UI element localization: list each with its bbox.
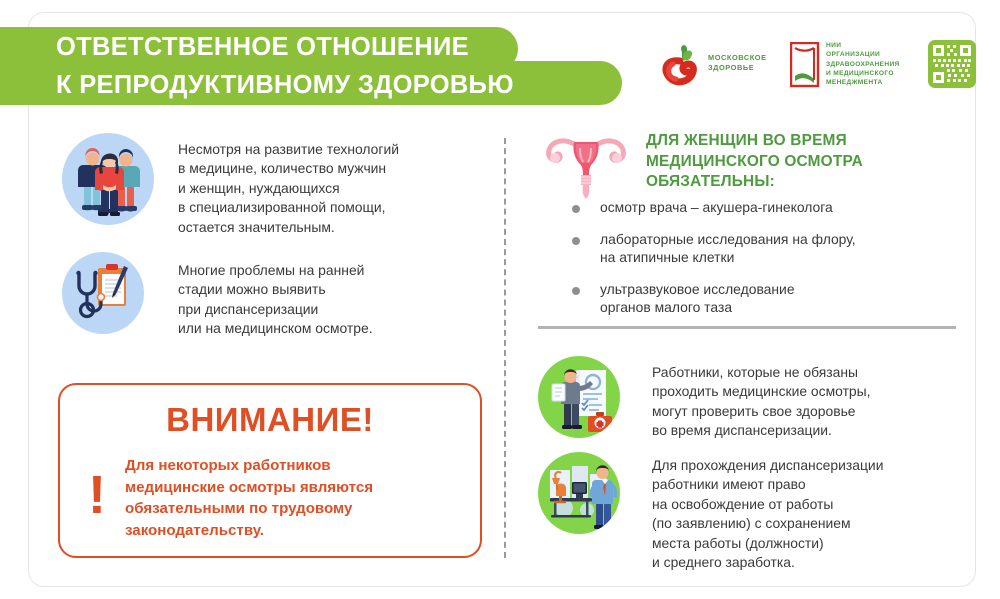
- moscow-health-mark-icon: [660, 42, 704, 88]
- infographic-poster: ОТВЕТСТВЕННОЕ ОТНОШЕНИЕ К РЕПРОДУКТИВНОМ…: [0, 0, 1000, 599]
- info-block-text: Для прохождения диспансеризации работник…: [652, 456, 883, 572]
- uterus-icon: [540, 128, 632, 203]
- list-item-label: лабораторные исследования на флору, на а…: [600, 230, 856, 267]
- moscow-health-logo-text: МОСКОВСКОЕ ЗДОРОВЬЕ: [708, 53, 788, 73]
- women-requirements-list: осмотр врача – акушера-гинеколога лабора…: [572, 198, 964, 330]
- group-of-people-icon: [62, 133, 154, 225]
- info-block-specialized-care: Несмотря на развитие технологий в медици…: [62, 133, 482, 237]
- bullet-dot-icon: [572, 237, 580, 245]
- bullet-dot-icon: [572, 205, 580, 213]
- list-item-label: осмотр врача – акушера-гинеколога: [600, 198, 833, 217]
- warning-title: ВНИМАНИЕ!: [60, 401, 480, 439]
- women-requirements-title: ДЛЯ ЖЕНЩИН ВО ВРЕМЯ МЕДИЦИНСКОГО ОСМОТРА…: [646, 131, 863, 193]
- office-workplace-icon: [538, 452, 620, 534]
- nii-logo-text: НИИ ОРГАНИЗАЦИИ ЗДРАВООХРАНЕНИЯ И МЕДИЦИ…: [826, 41, 918, 87]
- info-block-leave-rights: Для прохождения диспансеризации работник…: [538, 452, 968, 572]
- list-item-label: ультразвуковое исследование органов мало…: [600, 280, 795, 317]
- exclamation-icon: !: [88, 468, 106, 522]
- bullet-dot-icon: [572, 287, 580, 295]
- list-item: лабораторные исследования на флору, на а…: [572, 230, 964, 267]
- warning-callout: ВНИМАНИЕ! ! Для некоторых работников мед…: [58, 383, 482, 558]
- logo-group: МОСКОВСКОЕ ЗДОРОВЬЕ НИИ ОРГАНИЗАЦИИ ЗДРА…: [660, 36, 960, 94]
- list-item: ультразвуковое исследование органов мало…: [572, 280, 964, 317]
- info-block-text: Несмотря на развитие технологий в медици…: [178, 140, 399, 237]
- stethoscope-clipboard-icon: [62, 252, 144, 334]
- worker-checklist-icon: [538, 356, 620, 438]
- nii-book-icon: [790, 42, 820, 88]
- nii-logo: НИИ ОРГАНИЗАЦИИ ЗДРАВООХРАНЕНИЯ И МЕДИЦИ…: [790, 36, 915, 94]
- info-block-early-detection: Многие проблемы на ранней стадии можно в…: [62, 252, 482, 339]
- list-item: осмотр врача – акушера-гинеколога: [572, 198, 964, 217]
- column-divider: [504, 138, 506, 558]
- info-block-text: Многие проблемы на ранней стадии можно в…: [178, 261, 373, 339]
- page-title: ОТВЕТСТВЕННОЕ ОТНОШЕНИЕ К РЕПРОДУКТИВНОМ…: [56, 28, 616, 104]
- title-banner: ОТВЕТСТВЕННОЕ ОТНОШЕНИЕ К РЕПРОДУКТИВНОМ…: [0, 27, 660, 105]
- warning-body-text: Для некоторых работников медицинские осм…: [125, 455, 470, 541]
- moscow-health-logo: МОСКОВСКОЕ ЗДОРОВЬЕ: [660, 40, 780, 90]
- women-requirements-heading: ДЛЯ ЖЕНЩИН ВО ВРЕМЯ МЕДИЦИНСКОГО ОСМОТРА…: [540, 128, 863, 203]
- info-block-text: Работники, которые не обязаны проходить …: [652, 363, 871, 441]
- info-block-voluntary-checkup: Работники, которые не обязаны проходить …: [538, 356, 968, 441]
- qr-code-icon[interactable]: [928, 40, 976, 88]
